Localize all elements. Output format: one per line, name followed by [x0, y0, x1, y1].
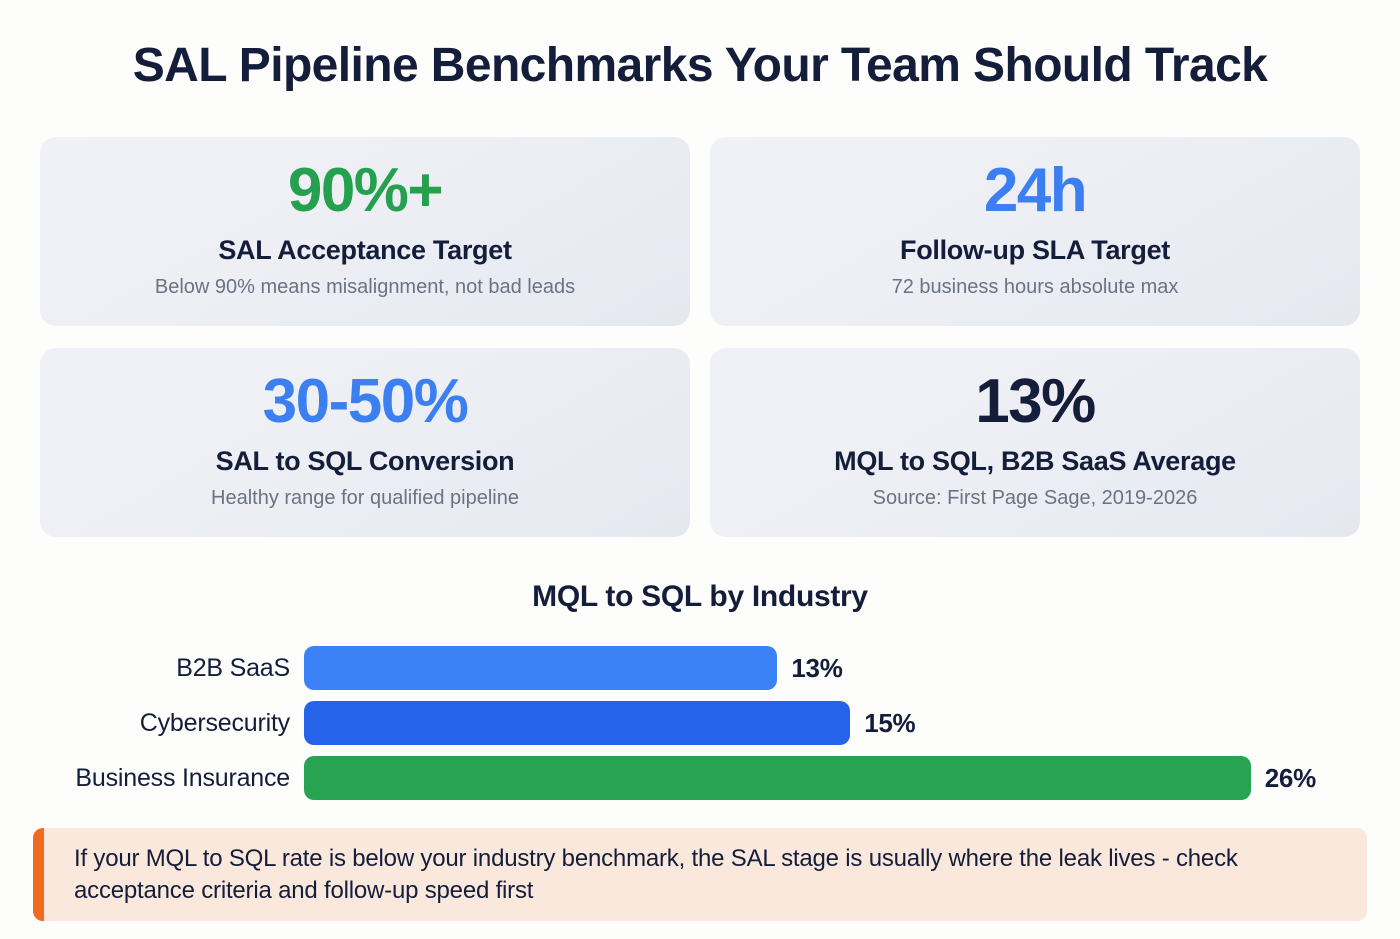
stat-card-sal-to-sql: 30-50% SAL to SQL Conversion Healthy ran…: [40, 348, 690, 537]
stat-card-followup-sla: 24h Follow-up SLA Target 72 business hou…: [710, 137, 1360, 326]
bar-category-label: Cybersecurity: [40, 709, 304, 738]
callout-banner: If your MQL to SQL rate is below your in…: [33, 828, 1367, 921]
callout-accent-bar: [33, 828, 44, 921]
stat-card-sal-acceptance: 90%+ SAL Acceptance Target Below 90% mea…: [40, 137, 690, 326]
bar-value-label: 26%: [1265, 763, 1316, 794]
bar-fill: [304, 701, 850, 745]
bar-value-label: 13%: [791, 653, 842, 684]
stat-label: MQL to SQL, B2B SaaS Average: [834, 446, 1236, 477]
bar-fill: [304, 646, 777, 690]
stat-value: 90%+: [288, 158, 442, 223]
stat-card-grid: 90%+ SAL Acceptance Target Below 90% mea…: [40, 137, 1360, 537]
bar-category-label: B2B SaaS: [40, 654, 304, 683]
callout-text: If your MQL to SQL rate is below your in…: [44, 828, 1367, 921]
bar-track: 15%: [304, 700, 1370, 746]
bar-row: Cybersecurity 15%: [40, 700, 1370, 746]
bar-fill: [304, 756, 1251, 800]
bar-chart: B2B SaaS 13% Cybersecurity 15% Business …: [40, 645, 1370, 810]
bar-category-label: Business Insurance: [40, 764, 304, 793]
stat-note: Healthy range for qualified pipeline: [211, 486, 519, 510]
stat-card-mql-to-sql-average: 13% MQL to SQL, B2B SaaS Average Source:…: [710, 348, 1360, 537]
bar-track: 13%: [304, 645, 1370, 691]
stat-value: 24h: [984, 158, 1086, 223]
stat-note: Below 90% means misalignment, not bad le…: [155, 275, 575, 299]
stat-label: Follow-up SLA Target: [900, 235, 1170, 266]
stat-label: SAL to SQL Conversion: [216, 446, 515, 477]
stat-value: 13%: [975, 369, 1095, 434]
infographic-page: SAL Pipeline Benchmarks Your Team Should…: [0, 0, 1400, 939]
chart-title: MQL to SQL by Industry: [0, 580, 1400, 614]
bar-track: 26%: [304, 755, 1370, 801]
stat-note: 72 business hours absolute max: [892, 275, 1179, 299]
page-title: SAL Pipeline Benchmarks Your Team Should…: [0, 40, 1400, 93]
bar-row: Business Insurance 26%: [40, 755, 1370, 801]
bar-row: B2B SaaS 13%: [40, 645, 1370, 691]
stat-note: Source: First Page Sage, 2019-2026: [873, 486, 1198, 510]
stat-label: SAL Acceptance Target: [218, 235, 511, 266]
stat-value: 30-50%: [263, 369, 468, 434]
bar-value-label: 15%: [864, 708, 915, 739]
